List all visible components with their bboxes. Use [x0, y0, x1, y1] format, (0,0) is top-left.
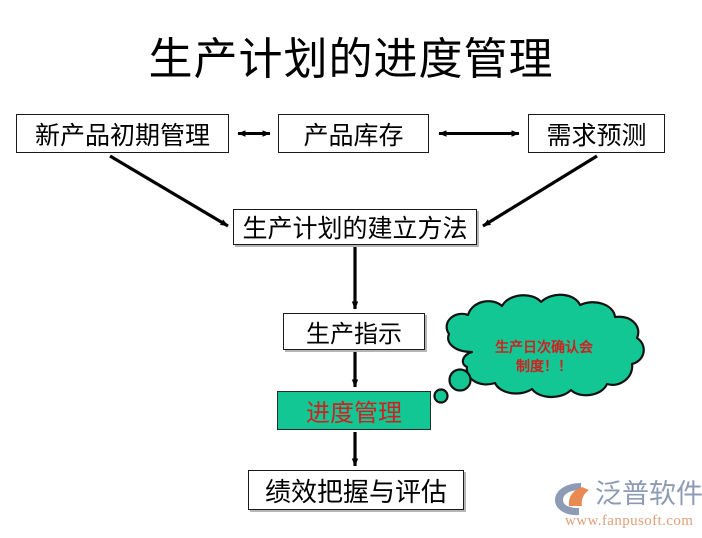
node-new-product-early-management[interactable]: 新产品初期管理 [16, 114, 229, 153]
callout-text: 生产日次确认会 制度！！ [462, 339, 626, 377]
diagram-canvas: 生产计划的进度管理 [0, 0, 702, 538]
node-production-order[interactable]: 生产指示 [283, 313, 425, 350]
callout-line-2: 制度！！ [462, 358, 626, 377]
callout-line-1: 生产日次确认会 [462, 339, 626, 358]
node-demand-forecast[interactable]: 需求预测 [528, 114, 665, 153]
node-product-inventory[interactable]: 产品库存 [278, 114, 429, 153]
watermark-logo: 泛普软件 www.fanpusoft.com [551, 477, 696, 533]
watermark-brand: 泛普软件 [595, 479, 702, 511]
edge-new-product-plan-method [110, 156, 228, 226]
page-title: 生产计划的进度管理 [0, 34, 702, 86]
edge-forecast-plan-method [483, 156, 597, 226]
watermark-url: www.fanpusoft.com [565, 512, 693, 530]
node-progress-management[interactable]: 进度管理 [277, 391, 431, 430]
node-performance-evaluation[interactable]: 绩效把握与评估 [248, 470, 464, 510]
node-production-plan-method[interactable]: 生产计划的建立方法 [233, 209, 477, 245]
